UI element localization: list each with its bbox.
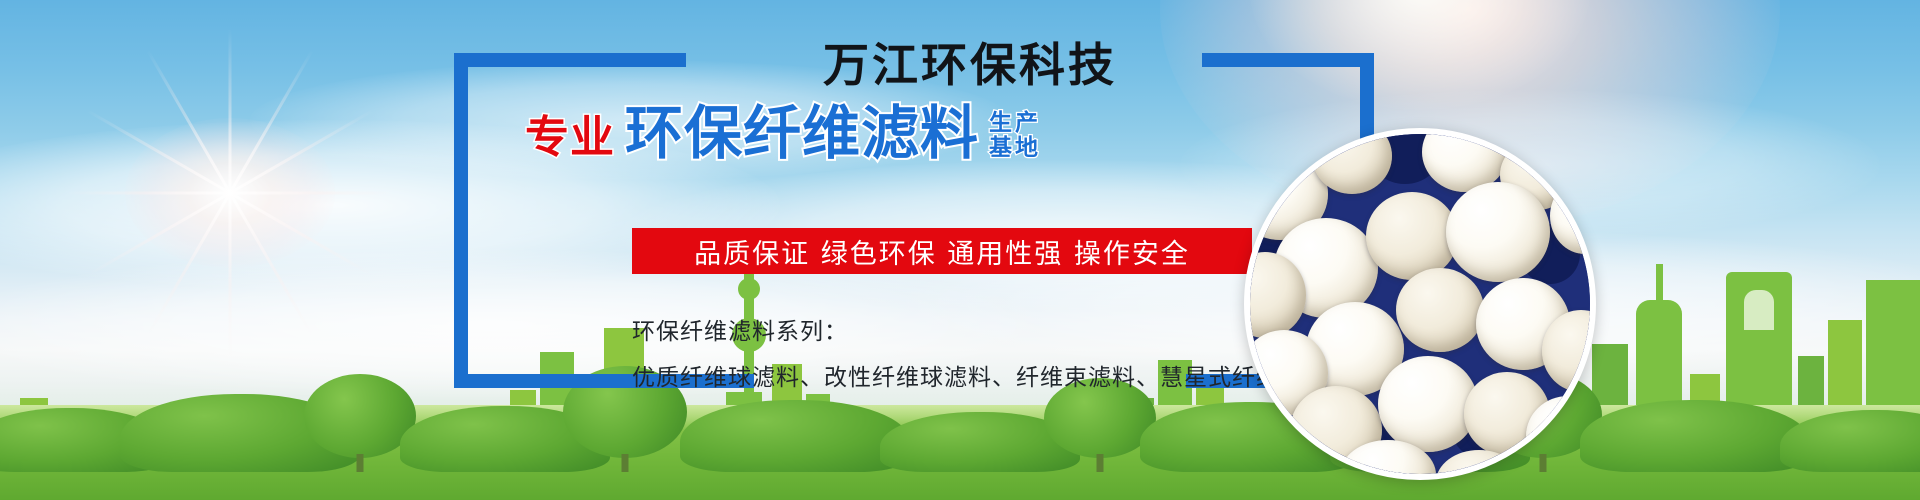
bracket-left-vertical	[454, 53, 468, 388]
promotional-banner: 万江环保科技 专业 环保纤维滤料 生产 基地 品质保证 绿色环保 通用性强 操作…	[0, 0, 1920, 500]
description-line-1: 环保纤维滤料系列：	[632, 312, 848, 346]
headline-suffix-line2: 基地	[989, 135, 1041, 161]
product-photo-circle	[1244, 128, 1596, 480]
brand-title: 万江环保科技	[650, 42, 1290, 88]
slogan-bar: 品质保证 绿色环保 通用性强 操作安全	[632, 228, 1252, 274]
headline-main: 环保纤维滤料	[625, 104, 979, 162]
headline-suffix-line1: 生产	[989, 110, 1041, 136]
slogan-text: 品质保证 绿色环保 通用性强 操作安全	[694, 232, 1190, 271]
headline-prefix: 专业	[525, 116, 615, 162]
description-line-2: 优质纤维球滤料、改性纤维球滤料、纤维束滤料、慧星式纤维滤料	[632, 358, 1328, 392]
fiber-ball-photo	[1250, 134, 1590, 474]
headline-suffix: 生产 基地	[989, 111, 1041, 160]
headline-group: 专业 环保纤维滤料 生产 基地	[525, 104, 1285, 162]
